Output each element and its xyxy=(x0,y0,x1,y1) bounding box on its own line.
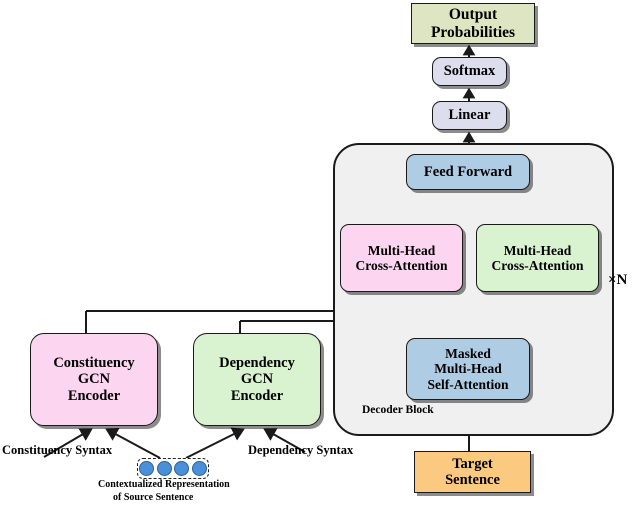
softmax-label: Softmax xyxy=(444,63,496,79)
diagram-canvas: Output Probabilities Softmax Linear Feed… xyxy=(0,0,632,528)
output-probabilities-text: Output Probabilities xyxy=(431,6,515,41)
node-target-sentence[interactable]: Target Sentence xyxy=(414,451,531,493)
arrow-context-to-dep xyxy=(186,430,242,458)
dep-enc-line1: Dependency xyxy=(219,355,295,371)
cross-attn-const-line2: Cross-Attention xyxy=(356,258,448,273)
constituency-syntax-label: Constituency Syntax xyxy=(2,443,112,458)
dep-enc-line3: Encoder xyxy=(231,388,283,404)
output-probabilities-line2: Probabilities xyxy=(431,24,515,41)
linear-label: Linear xyxy=(449,107,491,123)
token-dot-icon xyxy=(157,461,172,476)
const-enc-line3: Encoder xyxy=(68,388,120,404)
dependency-syntax-label: Dependency Syntax xyxy=(248,443,353,458)
node-cross-attention-dependency[interactable]: Multi-Head Cross-Attention xyxy=(476,224,599,292)
target-sentence-text: Target Sentence xyxy=(445,456,500,488)
cross-attn-const-line1: Multi-Head xyxy=(368,243,436,258)
arrow-context-to-const xyxy=(108,430,160,458)
node-linear[interactable]: Linear xyxy=(432,101,507,130)
const-enc-line1: Constituency xyxy=(53,355,134,371)
target-sentence-line1: Target xyxy=(452,456,493,472)
masked-self-line2: Multi-Head xyxy=(434,361,502,376)
token-dot-icon xyxy=(139,461,154,476)
feed-forward-label: Feed Forward xyxy=(424,164,512,180)
node-feed-forward[interactable]: Feed Forward xyxy=(406,154,530,190)
decoder-block-label: Decoder Block xyxy=(362,404,434,416)
masked-self-line3: Self-Attention xyxy=(428,377,509,392)
context-caption-line1: Contextualized Representation xyxy=(98,479,230,490)
cross-attn-dep-line2: Cross-Attention xyxy=(492,258,584,273)
node-masked-multi-head-self-attention[interactable]: Masked Multi-Head Self-Attention xyxy=(406,338,530,400)
masked-self-line1: Masked xyxy=(445,346,491,361)
cross-attn-dep-line1: Multi-Head xyxy=(504,243,572,258)
target-sentence-line2: Sentence xyxy=(445,472,500,488)
node-softmax[interactable]: Softmax xyxy=(432,57,507,86)
node-output-probabilities[interactable]: Output Probabilities xyxy=(411,3,535,44)
cross-attention-constituency-text: Multi-Head Cross-Attention xyxy=(356,243,448,273)
const-enc-line2: GCN xyxy=(78,371,110,387)
contextualized-representation-tokens[interactable] xyxy=(137,458,209,479)
repeat-count-label: ×N xyxy=(608,272,627,289)
dependency-encoder-text: Dependency GCN Encoder xyxy=(219,355,295,404)
token-dot-icon xyxy=(174,461,189,476)
node-constituency-gcn-encoder[interactable]: Constituency GCN Encoder xyxy=(30,333,158,426)
node-dependency-gcn-encoder[interactable]: Dependency GCN Encoder xyxy=(193,333,321,426)
output-probabilities-line1: Output xyxy=(449,6,497,23)
token-dot-icon xyxy=(192,461,207,476)
context-caption-line2: of Source Sentence xyxy=(113,492,193,503)
constituency-encoder-text: Constituency GCN Encoder xyxy=(53,355,134,404)
masked-self-attention-text: Masked Multi-Head Self-Attention xyxy=(428,346,509,391)
node-cross-attention-constituency[interactable]: Multi-Head Cross-Attention xyxy=(340,224,463,292)
cross-attention-dependency-text: Multi-Head Cross-Attention xyxy=(492,243,584,273)
dep-enc-line2: GCN xyxy=(241,371,273,387)
